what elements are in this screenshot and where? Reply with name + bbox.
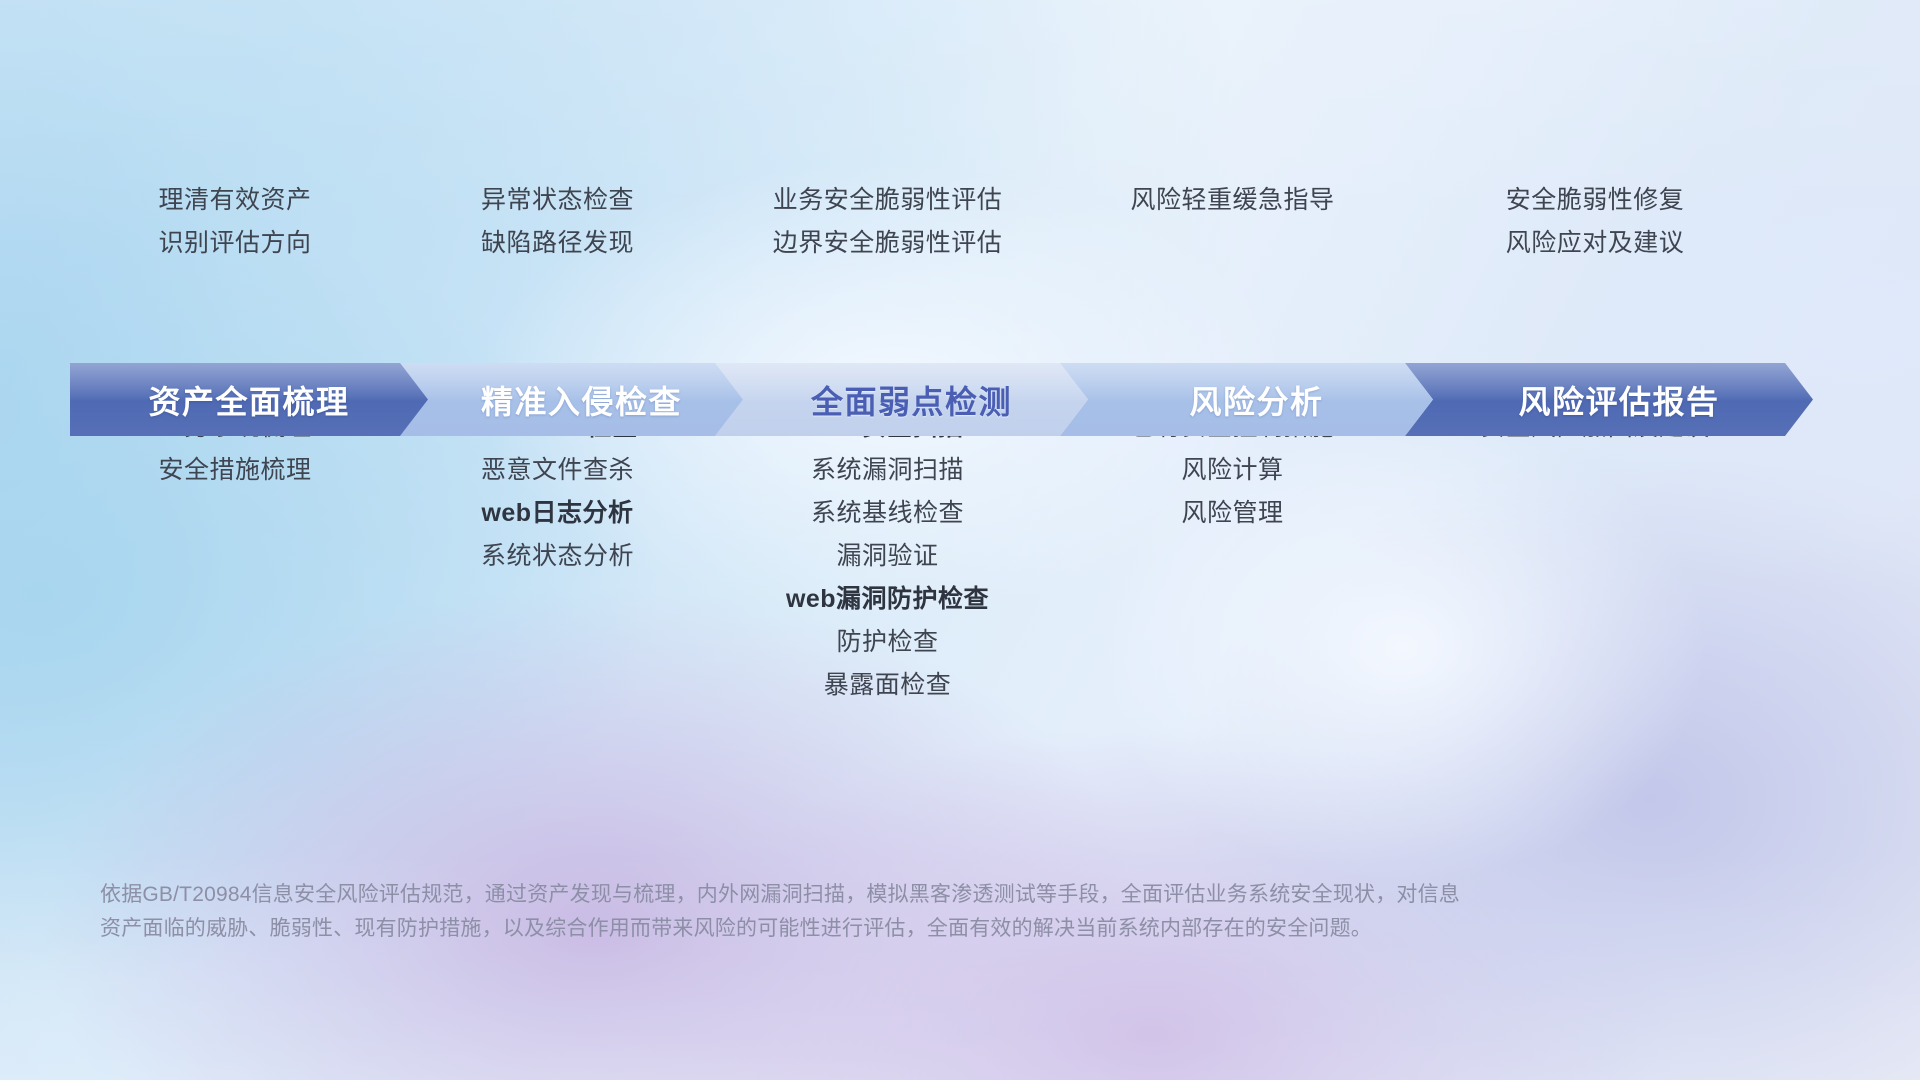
- top-label: 业务安全脆弱性评估: [773, 185, 1003, 216]
- footer-line-1: 依据GB/T20984信息安全风险评估规范，通过资产发现与梳理，内外网漏洞扫描，…: [100, 878, 1740, 912]
- bottom-labels-step-weakness-detection: web安全扫描系统漏洞扫描系统基线检查漏洞验证web漏洞防护检查防护检查暴露面检…: [715, 412, 1060, 700]
- bottom-labels-step-intrusion-check: webshell检查恶意文件查杀web日志分析系统状态分析: [400, 412, 715, 700]
- top-labels-step-risk-report: 安全脆弱性修复风险应对及建议: [1405, 185, 1785, 290]
- arrow-step-risk-report[interactable]: 风险评估报告: [1405, 363, 1813, 436]
- top-label: 边界安全脆弱性评估: [773, 228, 1003, 259]
- top-labels-step-intrusion-check: 异常状态检查缺陷路径发现: [400, 185, 715, 290]
- arrow-label: 风险分析: [1169, 377, 1323, 423]
- bottom-label: 系统漏洞扫描: [811, 455, 964, 485]
- bottom-label: 风险计算: [1181, 455, 1283, 485]
- arrow-label: 精准入侵检查: [461, 377, 682, 423]
- bottom-label: web日志分析: [481, 498, 633, 528]
- top-label: 风险轻重缓急指导: [1130, 185, 1334, 216]
- slide-canvas: 理清有效资产识别评估方向异常状态检查缺陷路径发现业务安全脆弱性评估边界安全脆弱性…: [0, 0, 1920, 1080]
- process-top-labels: 理清有效资产识别评估方向异常状态检查缺陷路径发现业务安全脆弱性评估边界安全脆弱性…: [70, 185, 1850, 290]
- top-labels-step-asset-inventory: 理清有效资产识别评估方向: [70, 185, 400, 290]
- bottom-label: 系统状态分析: [481, 541, 634, 571]
- top-label: 异常状态检查: [481, 185, 634, 216]
- top-labels-step-weakness-detection: 业务安全脆弱性评估边界安全脆弱性评估: [715, 185, 1060, 290]
- arrow-label: 风险评估报告: [1498, 377, 1719, 423]
- slide-content: 理清有效资产识别评估方向异常状态检查缺陷路径发现业务安全脆弱性评估边界安全脆弱性…: [0, 0, 1920, 1080]
- top-label: 识别评估方向: [158, 228, 311, 259]
- arrow-label: 全面弱点检测: [791, 377, 1012, 423]
- top-label: 安全脆弱性修复: [1506, 185, 1685, 216]
- top-label: 风险应对及建议: [1506, 228, 1685, 259]
- footer-description: 依据GB/T20984信息安全风险评估规范，通过资产发现与梳理，内外网漏洞扫描，…: [100, 878, 1740, 946]
- arrow-label: 资产全面梳理: [148, 377, 349, 423]
- bottom-label: 防护检查: [836, 627, 938, 657]
- arrow-step-intrusion-check[interactable]: 精准入侵检查: [400, 363, 743, 436]
- bottom-label: 漏洞验证: [836, 541, 938, 571]
- bottom-labels-step-risk-analysis: 已有安全控制措施风险计算风险管理: [1060, 412, 1405, 700]
- arrow-step-asset-inventory[interactable]: 资产全面梳理: [70, 363, 428, 436]
- bottom-label: web漏洞防护检查: [786, 584, 989, 614]
- top-label: 缺陷路径发现: [481, 228, 634, 259]
- bottom-label: 安全措施梳理: [158, 455, 311, 485]
- top-label: 理清有效资产: [158, 185, 311, 216]
- bottom-label: 系统基线检查: [811, 498, 964, 528]
- arrow-step-weakness-detection[interactable]: 全面弱点检测: [715, 363, 1088, 436]
- bottom-labels-step-risk-report: 安全风险加固及建议: [1405, 412, 1785, 700]
- bottom-label: 恶意文件查杀: [481, 455, 634, 485]
- process-bottom-labels: 业务系统梳理安全措施梳理webshell检查恶意文件查杀web日志分析系统状态分…: [70, 412, 1850, 700]
- arrow-step-risk-analysis[interactable]: 风险分析: [1060, 363, 1433, 436]
- bottom-labels-step-asset-inventory: 业务系统梳理安全措施梳理: [70, 412, 400, 700]
- top-labels-step-risk-analysis: 风险轻重缓急指导: [1060, 185, 1405, 290]
- bottom-label: 风险管理: [1181, 498, 1283, 528]
- process-arrow-band: 资产全面梳理精准入侵检查全面弱点检测风险分析风险评估报告: [70, 363, 1854, 436]
- bottom-label: 暴露面检查: [824, 670, 952, 700]
- footer-line-2: 资产面临的威胁、脆弱性、现有防护措施，以及综合作用而带来风险的可能性进行评估，全…: [100, 912, 1740, 946]
